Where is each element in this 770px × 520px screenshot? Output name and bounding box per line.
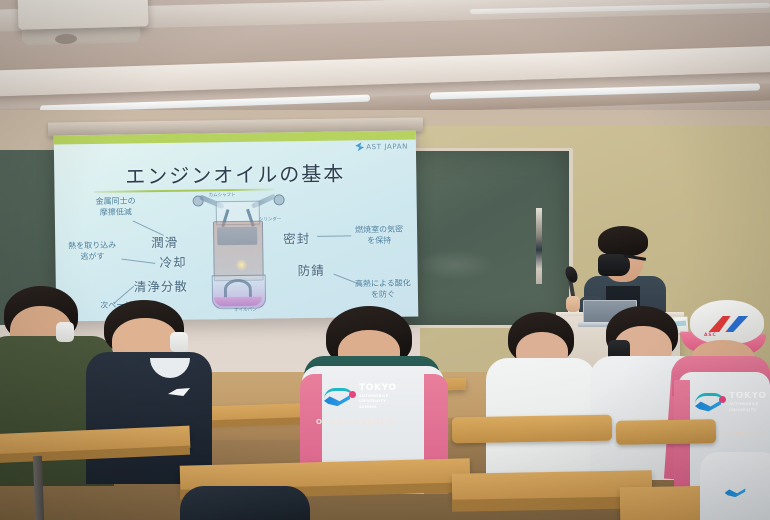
- note-seal-line1: 燃焼室の気密: [347, 225, 411, 236]
- uniform-text-university-2: UNIVERSITY: [729, 408, 767, 412]
- presenter-hair: [598, 226, 648, 256]
- keyword-sealing: 密封: [283, 228, 310, 247]
- classroom-photo: EPSON AST JAPAN エンジンオイルの基本: [0, 0, 770, 520]
- combustion-glow: [235, 259, 247, 271]
- cap-logo-text: ASC: [704, 333, 716, 338]
- note-friction-line1: 金属同士の: [83, 196, 149, 207]
- student-3-uniform-school-name: OGURA GAKUEN: [316, 418, 394, 426]
- leader-line-sealing: [317, 235, 351, 236]
- uniform-text-tokyo: TOKYO: [359, 384, 397, 393]
- slide-title: エンジンオイルの基本: [54, 156, 416, 190]
- uniform-text-automobile: AUTOMOBILE: [359, 394, 397, 398]
- student-3-uniform-logo: TOKYO AUTOMOBILE UNIVERSITY SCHOOL: [322, 384, 397, 409]
- note-heat-line1: 熱を取り込み: [61, 241, 123, 252]
- chair-back-right: [616, 419, 716, 445]
- keyword-detergency: 清浄分散: [134, 276, 188, 296]
- keyword-rustproof: 防錆: [297, 260, 324, 279]
- chalkboard: [401, 151, 569, 325]
- chalk-dust-smudge: [415, 250, 495, 280]
- student-1-mask: [56, 322, 74, 342]
- note-seal-line2: を保持: [347, 236, 411, 247]
- ast-japan-mark-icon: [355, 142, 364, 151]
- uniform-dot-icon: [349, 391, 356, 398]
- cylinder-label: シリンダー: [259, 216, 282, 222]
- slide-logo-text: AST JAPAN: [366, 142, 408, 151]
- uniform-text-tokyo-2: TOKYO: [729, 392, 767, 401]
- chair-back-center: [452, 415, 612, 444]
- student-2-torso: [86, 352, 212, 484]
- leader-line-cooling: [121, 259, 155, 264]
- piston: [217, 227, 257, 246]
- uniform-dot-icon-2: [719, 396, 726, 403]
- student-8-uniform: [700, 452, 770, 520]
- note-friction-line2: 摩擦低減: [83, 207, 149, 218]
- slide-logo: AST JAPAN: [355, 142, 408, 152]
- student-2-mask: [170, 332, 188, 352]
- keyword-cooling: 冷却: [159, 252, 186, 271]
- projection-screen: AST JAPAN エンジンオイルの基本 カムシャフト シリンダー オイルパン …: [54, 130, 419, 321]
- engine-oil-level: [214, 297, 262, 307]
- student-7-torso: [180, 486, 310, 520]
- engine-diagram: カムシャフト シリンダー オイルパン: [193, 192, 285, 311]
- note-rust-line2: を防ぐ: [352, 290, 414, 301]
- student-6-uniform-logo: TOKYO AUTOMOBILE UNIVERSITY: [694, 392, 767, 412]
- camshaft-label: カムシャフト: [209, 192, 236, 198]
- note-rust-line1: 高熱による酸化: [352, 279, 414, 290]
- chalkboard-edge-rail: [536, 208, 542, 284]
- oilpan-label: オイルパン: [234, 307, 257, 313]
- uniform-text-school: SCHOOL: [359, 405, 397, 409]
- note-heat-line2: 逃がす: [61, 252, 123, 263]
- keyword-lubrication: 潤滑: [151, 232, 178, 251]
- cap-crown: [690, 300, 764, 344]
- uniform-text-automobile-2: AUTOMOBILE: [729, 402, 767, 406]
- presenter-hand: [566, 296, 580, 312]
- uniform-text-university: UNIVERSITY: [359, 399, 397, 403]
- ceiling-projector: [18, 0, 149, 30]
